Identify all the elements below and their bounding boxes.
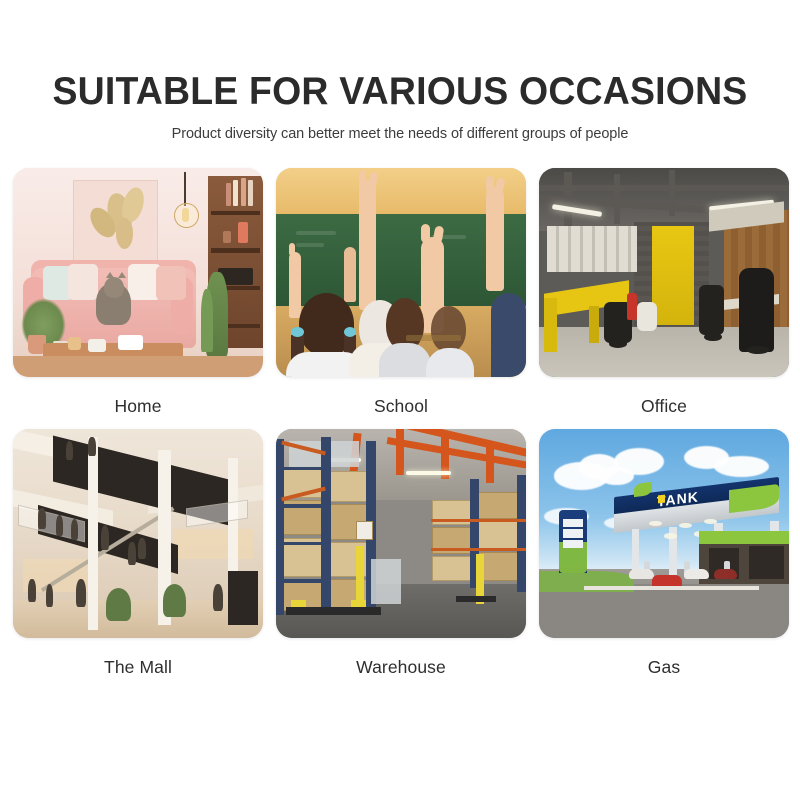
page-title: SUITABLE FOR VARIOUS OCCASIONS [16, 72, 784, 113]
occasion-card-mall[interactable]: The Mall [13, 429, 263, 678]
header: SUITABLE FOR VARIOUS OCCASIONS Product d… [0, 0, 800, 142]
home-caption: Home [114, 396, 161, 417]
warehouse-image [276, 429, 526, 638]
office-scene [539, 168, 789, 377]
school-scene [276, 168, 526, 377]
office-image [539, 168, 789, 377]
occasions-grid: Home [0, 168, 800, 678]
gas-scene: TANK [539, 429, 789, 638]
occasion-card-home[interactable]: Home [13, 168, 263, 417]
home-scene [13, 168, 263, 377]
mall-image [13, 429, 263, 638]
school-caption: School [374, 396, 428, 417]
warehouse-caption: Warehouse [356, 657, 446, 678]
school-image [276, 168, 526, 377]
occasion-card-gas[interactable]: TANK [539, 429, 789, 678]
gas-image: TANK [539, 429, 789, 638]
page-subtitle: Product diversity can better meet the ne… [0, 126, 800, 142]
gas-caption: Gas [648, 657, 680, 678]
occasion-card-school[interactable]: School [276, 168, 526, 417]
occasion-card-warehouse[interactable]: Warehouse [276, 429, 526, 678]
mall-caption: The Mall [104, 657, 172, 678]
home-image [13, 168, 263, 377]
occasion-card-office[interactable]: Office [539, 168, 789, 417]
mall-scene [13, 429, 263, 638]
office-caption: Office [641, 396, 687, 417]
promo-banner: SUITABLE FOR VARIOUS OCCASIONS Product d… [0, 0, 800, 800]
warehouse-scene [276, 429, 526, 638]
